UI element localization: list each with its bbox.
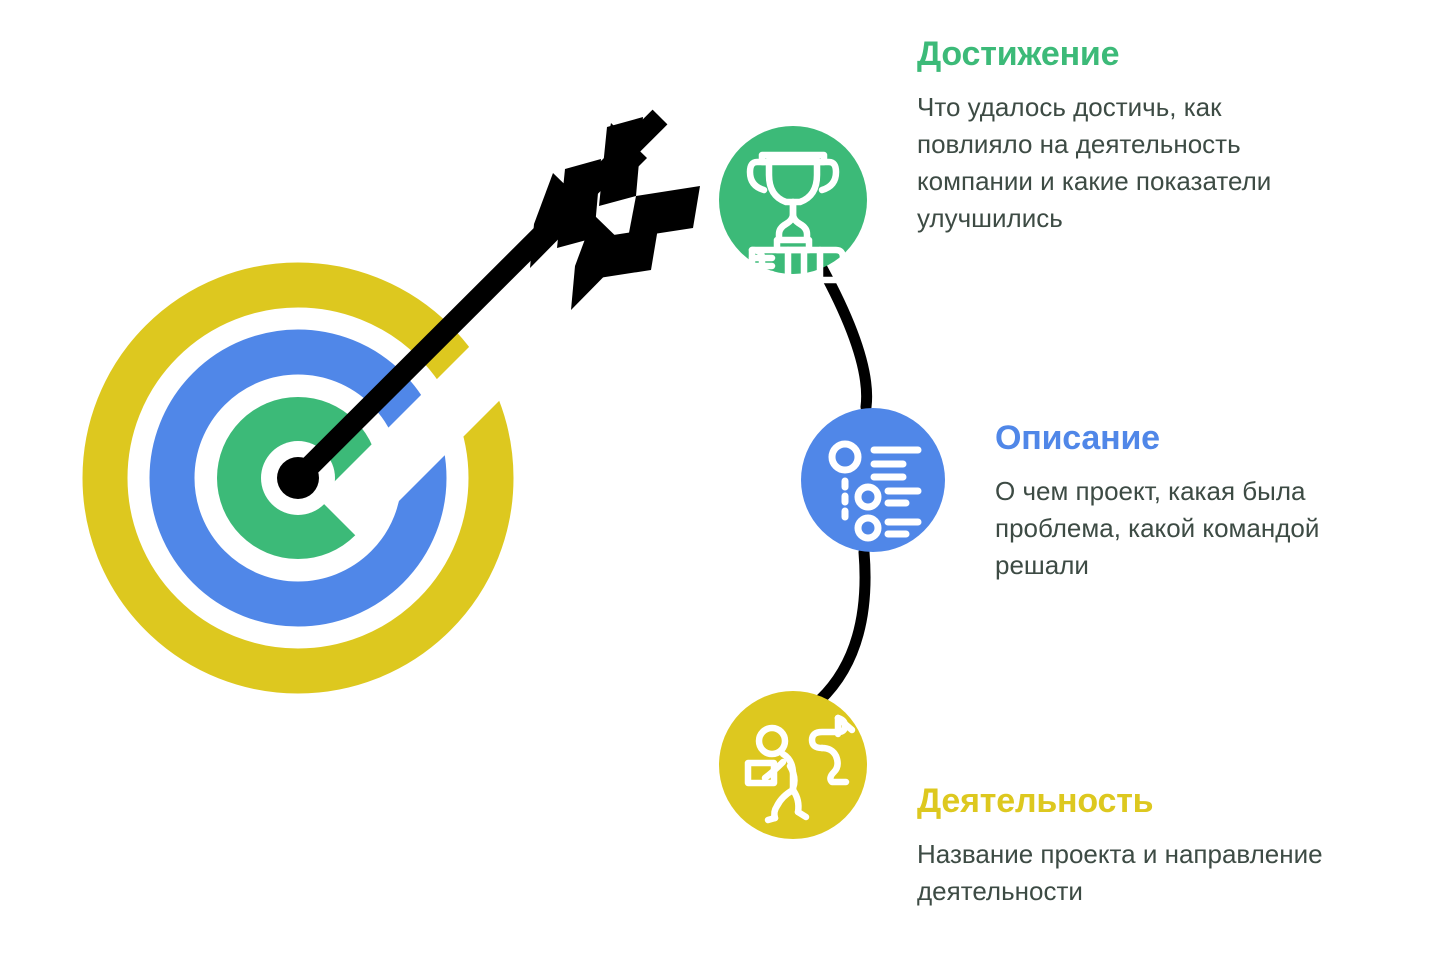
text-block-achievement: Достижение Что удалось достичь, как повл… (917, 36, 1337, 237)
infographic-canvas: Достижение Что удалось достичь, как повл… (0, 0, 1436, 959)
heading-activity: Деятельность (917, 783, 1347, 820)
heading-achievement: Достижение (917, 36, 1337, 73)
step-circle-activity[interactable] (719, 691, 867, 839)
step-circle-achievement[interactable] (719, 126, 867, 280)
step-circle-description[interactable] (801, 408, 945, 552)
body-achievement: Что удалось достичь, как повлияло на дея… (917, 89, 1337, 237)
text-block-activity: Деятельность Название проекта и направле… (917, 783, 1347, 910)
body-activity: Название проекта и направление деятельно… (917, 836, 1347, 910)
connector-description-to-activity (820, 552, 865, 700)
text-block-description: Описание О чем проект, какая была пробле… (995, 420, 1415, 584)
body-description: О чем проект, какая была проблема, какой… (995, 473, 1415, 584)
heading-description: Описание (995, 420, 1415, 457)
connector-achievement-to-description (822, 268, 867, 407)
